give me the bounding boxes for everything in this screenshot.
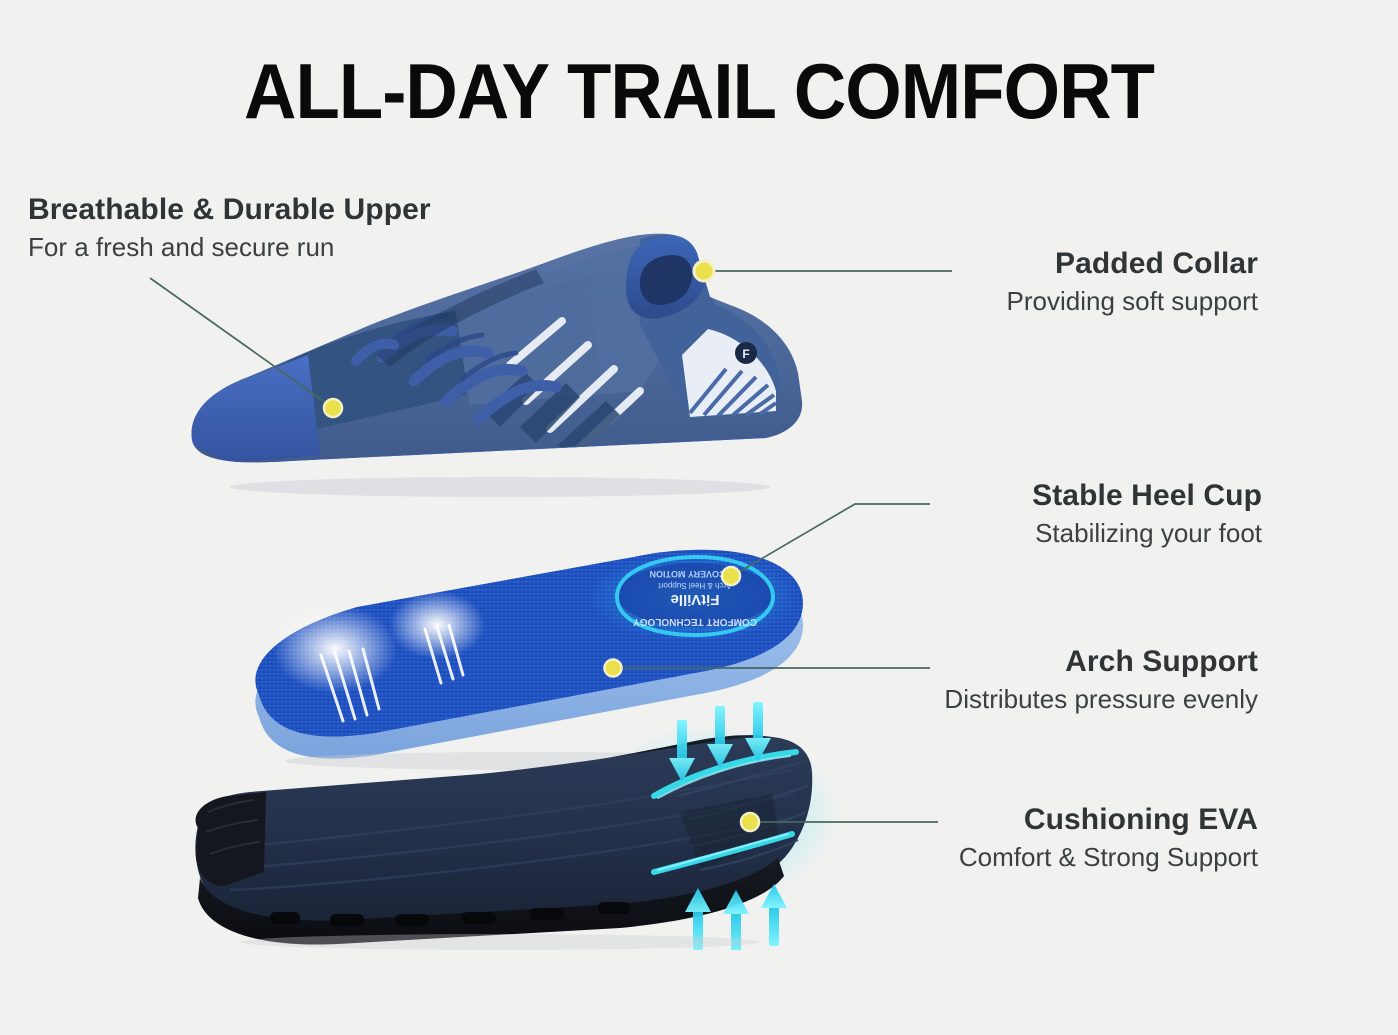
callout-subtitle-arch-support: Distributes pressure evenly xyxy=(944,683,1258,717)
callout-subtitle-breathable-upper: For a fresh and secure run xyxy=(28,231,431,265)
callout-cushioning-eva: Cushioning EVA Comfort & Strong Support xyxy=(959,802,1258,875)
callout-breathable-upper: Breathable & Durable Upper For a fresh a… xyxy=(28,192,431,265)
callout-heading-cushioning-eva: Cushioning EVA xyxy=(959,802,1258,837)
callout-heading-breathable-upper: Breathable & Durable Upper xyxy=(28,192,431,227)
svg-text:F: F xyxy=(742,347,749,361)
callout-subtitle-stable-heel-cup: Stabilizing your foot xyxy=(1032,517,1262,551)
svg-text:FitVille: FitVille xyxy=(671,591,720,608)
svg-text:Arch & Heel Support: Arch & Heel Support xyxy=(658,581,732,590)
svg-text:DISCOVERY MOTION: DISCOVERY MOTION xyxy=(649,569,740,579)
eva-midsole-image xyxy=(180,700,840,950)
callout-padded-collar: Padded Collar Providing soft support xyxy=(1007,246,1258,319)
callout-subtitle-cushioning-eva: Comfort & Strong Support xyxy=(959,841,1258,875)
callout-heading-stable-heel-cup: Stable Heel Cup xyxy=(1032,478,1262,513)
page-title: ALL-DAY TRAIL COMFORT xyxy=(49,52,1349,130)
callout-heading-padded-collar: Padded Collar xyxy=(1007,246,1258,281)
infographic-canvas: ALL-DAY TRAIL COMFORT xyxy=(0,0,1398,1035)
callout-stable-heel-cup: Stable Heel Cup Stabilizing your foot xyxy=(1032,478,1262,551)
svg-text:COMFORT TECHNOLOGY: COMFORT TECHNOLOGY xyxy=(633,616,757,627)
callout-subtitle-padded-collar: Providing soft support xyxy=(1007,285,1258,319)
callout-heading-arch-support: Arch Support xyxy=(944,644,1258,679)
callout-arch-support: Arch Support Distributes pressure evenly xyxy=(944,644,1258,717)
